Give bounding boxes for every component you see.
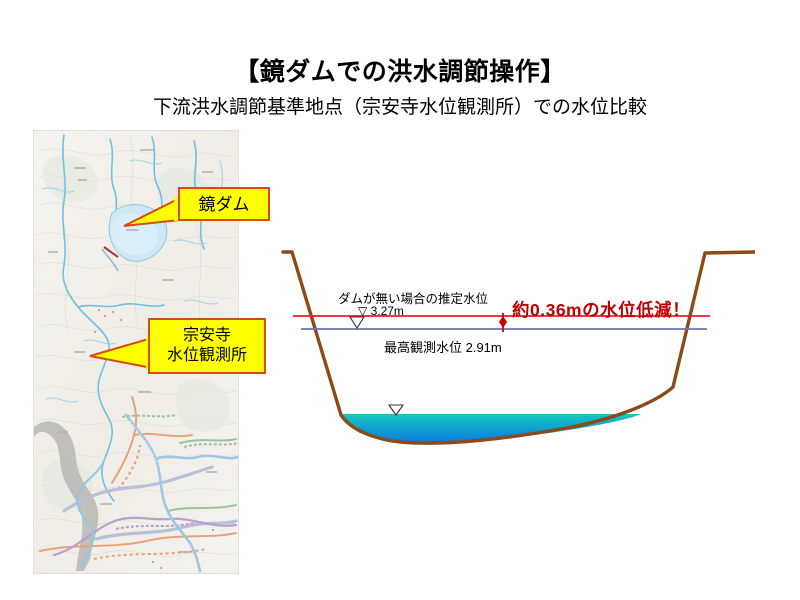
- callout-dam[interactable]: 鏡ダム: [178, 187, 270, 221]
- page-subtitle: 下流洪水調節基準地点（宗安寺水位観測所）での水位比較: [0, 92, 800, 119]
- no-dam-level-value: ▽ 3.27m: [358, 304, 404, 318]
- current-water-level-triangle-icon: [389, 405, 403, 415]
- observed-level-label: 最高観測水位 2.91m: [384, 337, 502, 356]
- river-cross-section: [255, 225, 755, 465]
- callout-dam-label: 鏡ダム: [199, 195, 250, 214]
- page-title: 【鏡ダムでの洪水調節操作】: [0, 52, 800, 88]
- callout-gauge-label-line1: 宗安寺: [150, 326, 264, 346]
- callout-gauge-label-line2: 水位観測所: [150, 346, 264, 366]
- callout-gauge[interactable]: 宗安寺 水位観測所: [148, 318, 266, 374]
- reduction-annotation: 約0.36mの水位低減！: [512, 297, 690, 322]
- no-dam-level-triangle-icon: [350, 317, 364, 328]
